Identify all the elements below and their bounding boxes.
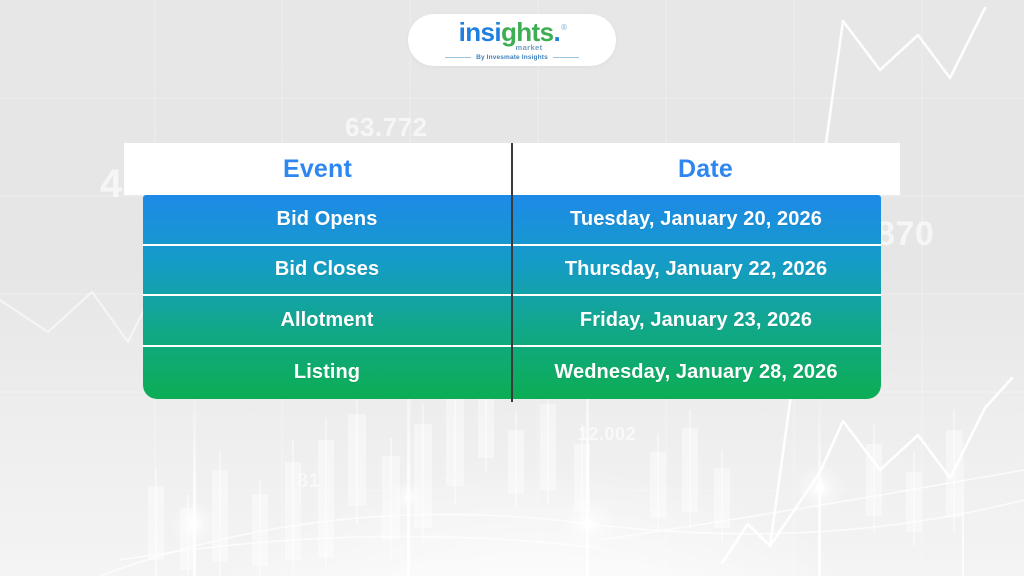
cell-date: Friday, January 23, 2026 (511, 296, 881, 345)
logo-period: . (553, 19, 560, 45)
watermark-number-2: 4 (100, 162, 123, 207)
watermark-number-5: 81 (297, 470, 320, 493)
cell-event: Listing (143, 347, 511, 399)
cell-event: Bid Opens (143, 195, 511, 244)
brand-logo[interactable]: insi ghts . ® market By Invesmate Insigh… (408, 14, 616, 66)
tagline-rule-right (553, 57, 579, 58)
column-header-date: Date (511, 143, 900, 195)
logo-wordmark: insi ghts . ® (459, 19, 566, 45)
cell-event: Allotment (143, 296, 511, 345)
column-divider (511, 143, 513, 402)
cell-date: Wednesday, January 28, 2026 (511, 347, 881, 399)
cell-event: Bid Closes (143, 246, 511, 295)
watermark-number-1: 63.772 (345, 112, 428, 143)
logo-word-part-1: insi (459, 19, 501, 45)
light-arcs (100, 470, 1024, 576)
tagline-rule-left (445, 57, 471, 58)
cell-date: Tuesday, January 20, 2026 (511, 195, 881, 244)
ipo-timeline-table: Event Date Bid Opens Tuesday, January 20… (124, 143, 900, 399)
glow-points (170, 462, 846, 552)
registered-trademark-icon: ® (561, 24, 566, 32)
logo-tagline-row: By Invesmate Insights (445, 54, 579, 61)
logo-tagline: By Invesmate Insights (476, 54, 548, 61)
cell-date: Thursday, January 22, 2026 (511, 246, 881, 295)
logo-word-part-2: ghts (501, 19, 553, 45)
watermark-number-4: 12.002 (578, 424, 636, 445)
column-header-event: Event (124, 143, 511, 195)
slide-canvas: 63.772 4 870 12.002 81 insi ghts . ® mar… (0, 0, 1024, 576)
